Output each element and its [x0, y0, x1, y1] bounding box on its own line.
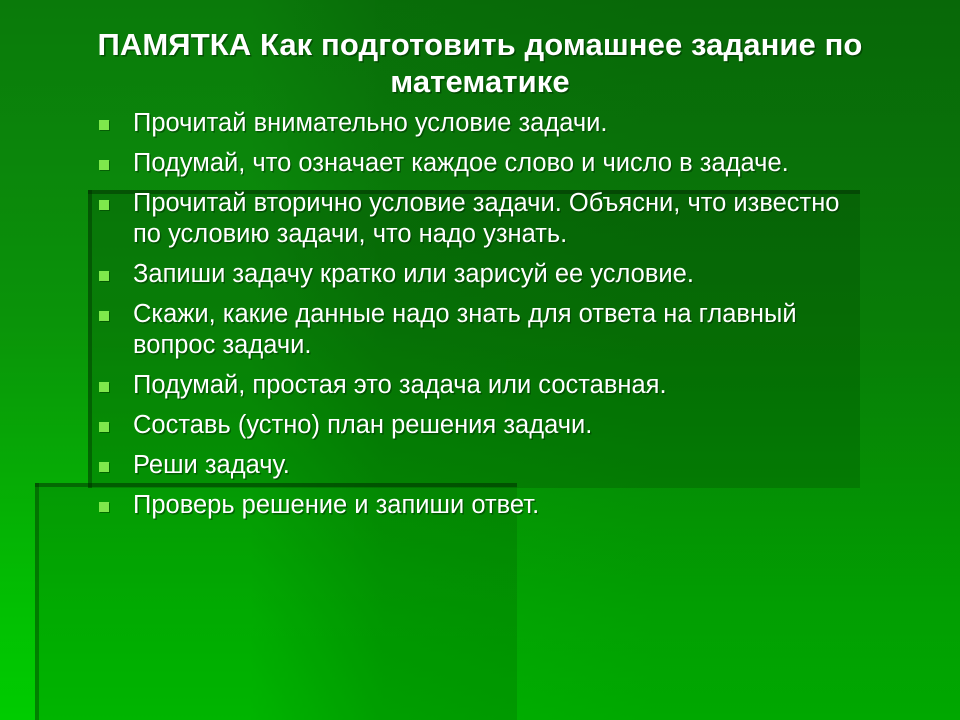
list-item-text: Составь (устно) план решения задачи.	[133, 411, 592, 439]
list-item: Подумай, простая это задача или составна…	[0, 370, 960, 401]
list-item-text: Проверь решение и запиши ответ.	[133, 491, 539, 519]
list-item: Подумай, что означает каждое слово и чис…	[0, 148, 960, 179]
bullet-list: Прочитай внимательно условие задачи. Под…	[0, 108, 960, 530]
square-bullet-icon	[99, 382, 109, 392]
square-bullet-icon	[99, 422, 109, 432]
list-item-text: Подумай, что означает каждое слово и чис…	[133, 149, 789, 177]
square-bullet-icon	[99, 200, 109, 210]
list-item-text: Реши задачу.	[133, 451, 290, 479]
slide-title: ПАМЯТКА Как подготовить домашнее задание…	[70, 26, 890, 100]
square-bullet-icon	[99, 271, 109, 281]
list-item-text: Скажи, какие данные надо знать для ответ…	[133, 300, 797, 359]
list-item: Составь (устно) план решения задачи.	[0, 410, 960, 441]
square-bullet-icon	[99, 311, 109, 321]
list-item-text: Запиши задачу кратко или зарисуй ее усло…	[133, 260, 694, 288]
list-item: Реши задачу.	[0, 450, 960, 481]
list-item-text: Подумай, простая это задача или составна…	[133, 371, 667, 399]
list-item: Проверь решение и запиши ответ.	[0, 490, 960, 521]
square-bullet-icon	[99, 502, 109, 512]
square-bullet-icon	[99, 160, 109, 170]
list-item: Прочитай внимательно условие задачи.	[0, 108, 960, 139]
list-item-text: Прочитай вторично условие задачи. Объясн…	[133, 189, 839, 248]
list-item-text: Прочитай внимательно условие задачи.	[133, 109, 607, 137]
square-bullet-icon	[99, 462, 109, 472]
list-item: Запиши задачу кратко или зарисуй ее усло…	[0, 259, 960, 290]
list-item: Скажи, какие данные надо знать для ответ…	[0, 299, 960, 361]
list-item: Прочитай вторично условие задачи. Объясн…	[0, 188, 960, 250]
slide-canvas: ПАМЯТКА Как подготовить домашнее задание…	[0, 0, 960, 720]
square-bullet-icon	[99, 120, 109, 130]
